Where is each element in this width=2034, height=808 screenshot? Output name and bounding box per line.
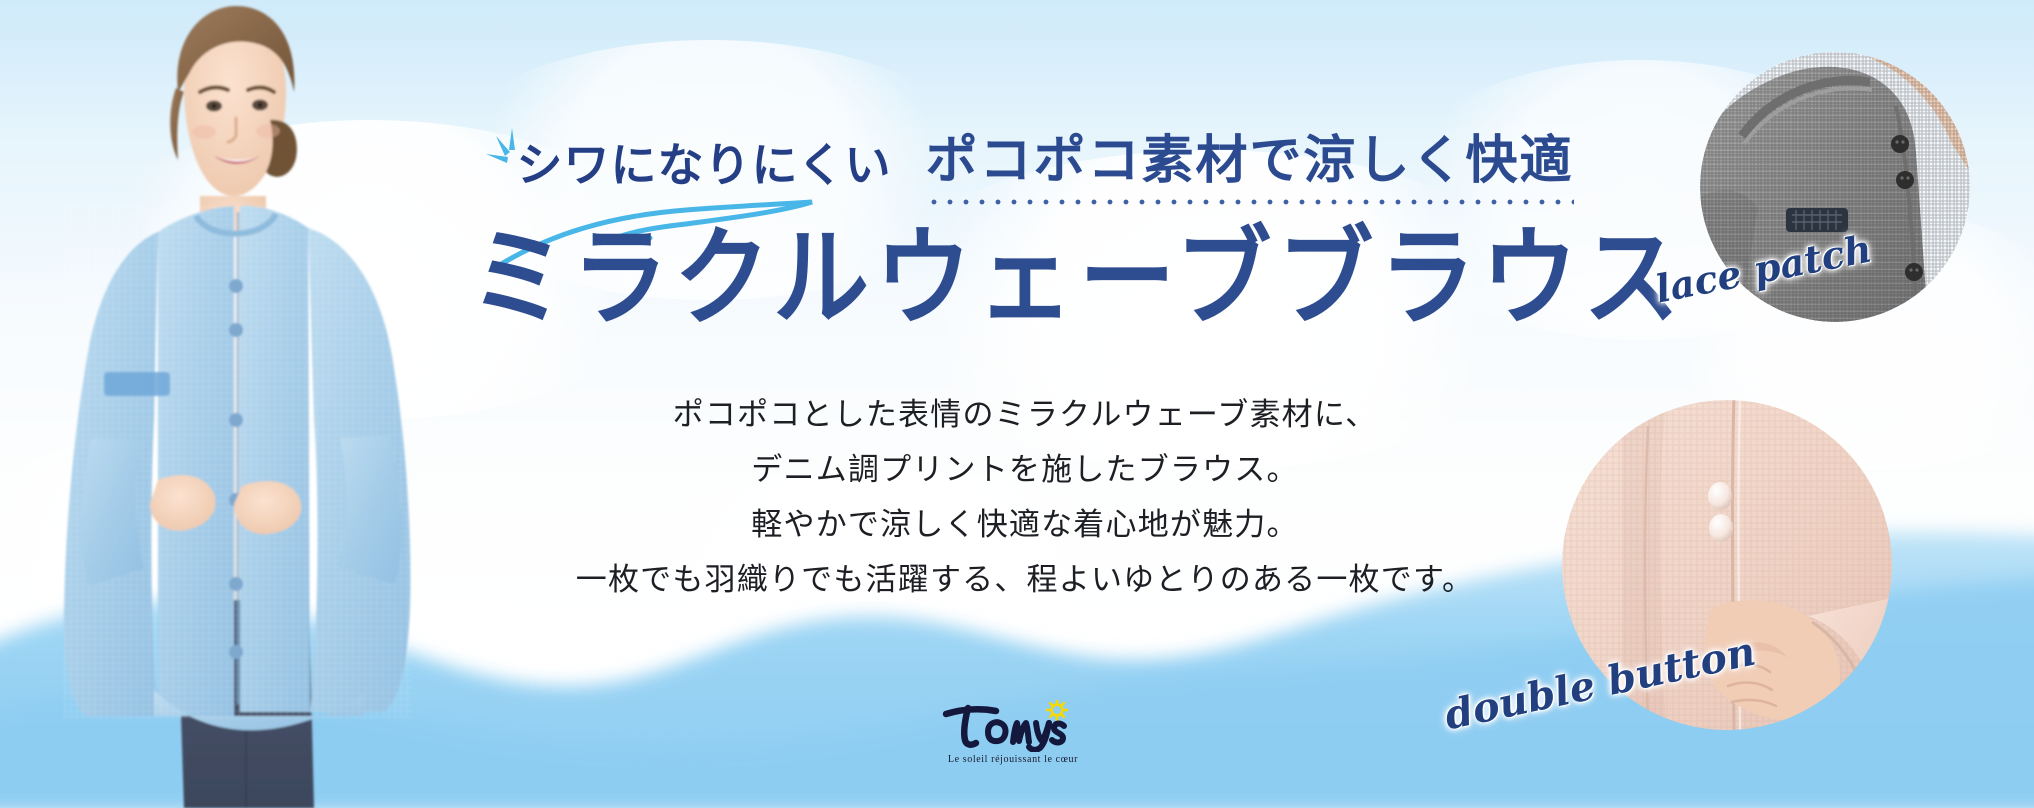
detail-inset-double-button: double button <box>1562 400 1892 730</box>
sun-icon <box>1047 701 1067 720</box>
sparkle-icon <box>482 124 538 180</box>
logo-tagline: Le soleil réjouissant le cœur <box>918 754 1108 765</box>
brand-logo: Le soleil réjouissant le cœur <box>918 700 1108 765</box>
promo-banner: シワになりにくい ポコポコ素材で涼しく快適 ミラクルウェーブブラウス ポコポコと… <box>0 0 2034 808</box>
model-photo <box>8 0 528 808</box>
logo-wordmark <box>918 700 1108 752</box>
page-title: ミラクルウェーブブラウス <box>470 222 1580 335</box>
kicker-row: シワになりにくい ポコポコ素材で涼しく快適 <box>470 92 1580 188</box>
kicker-left-text: シワになりにくい <box>516 142 891 188</box>
cloud-shape <box>0 430 480 730</box>
copy-block: シワになりにくい ポコポコ素材で涼しく快適 ミラクルウェーブブラウス ポコポコと… <box>470 92 1580 607</box>
description-line: デニム調プリントを施したブラウス。 <box>470 442 1580 497</box>
description-line: ポコポコとした表情のミラクルウェーブ素材に、 <box>470 387 1580 442</box>
description-line: 一枚でも羽織りでも活躍する、程よいゆとりのある一枚です。 <box>470 552 1580 607</box>
description-line: 軽やかで涼しく快適な着心地が魅力。 <box>470 497 1580 552</box>
detail-inset-lace-patch: lace patch <box>1700 52 1970 322</box>
kicker-right-group: ポコポコ素材で涼しく快適 <box>926 136 1574 188</box>
kicker-left-group: シワになりにくい <box>476 142 891 188</box>
dotted-underline <box>926 198 1574 206</box>
kicker-right-text: ポコポコ素材で涼しく快適 <box>926 136 1574 188</box>
description-text: ポコポコとした表情のミラクルウェーブ素材に、 デニム調プリントを施したブラウス。… <box>470 387 1580 608</box>
